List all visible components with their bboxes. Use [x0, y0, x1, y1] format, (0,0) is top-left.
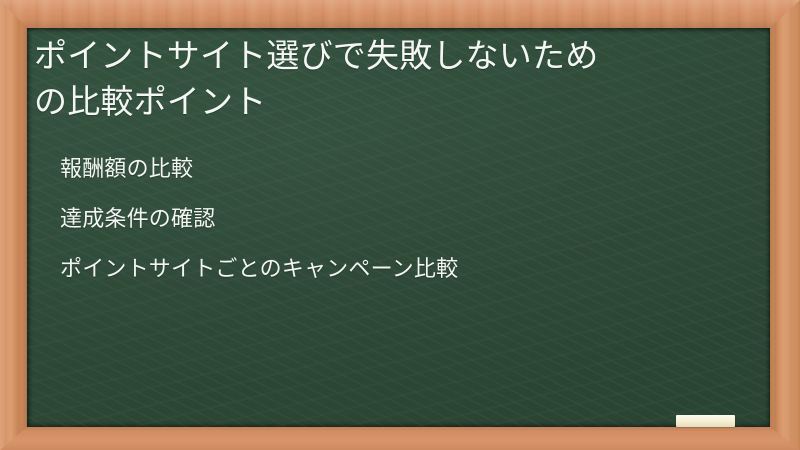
- page-title: ポイントサイト選びで失敗しないための比較ポイント: [34, 33, 760, 125]
- list-item: ポイントサイトごとのキャンペーン比較: [60, 254, 750, 284]
- list-item: 達成条件の確認: [60, 204, 750, 234]
- page-title-line-1: ポイントサイト選びで失敗しないため: [34, 37, 598, 74]
- frame-ledge-bottom: [0, 427, 800, 450]
- list-item: 報酬額の比較: [60, 154, 750, 184]
- frame-rail-left: [0, 0, 27, 450]
- slide-canvas: ポイントサイト選びで失敗しないための比較ポイント 報酬額の比較 達成条件の確認 …: [0, 0, 800, 450]
- frame-rail-right: [770, 0, 800, 450]
- chalk-stick-icon: [676, 415, 735, 427]
- bullet-list: 報酬額の比較 達成条件の確認 ポイントサイトごとのキャンペーン比較: [60, 154, 750, 284]
- frame-rail-top: [0, 0, 800, 28]
- page-title-line-2: の比較ポイント: [34, 83, 266, 120]
- chalkboard: ポイントサイト選びで失敗しないための比較ポイント 報酬額の比較 達成条件の確認 …: [27, 28, 770, 427]
- board-content: ポイントサイト選びで失敗しないための比較ポイント 報酬額の比較 達成条件の確認 …: [27, 28, 770, 427]
